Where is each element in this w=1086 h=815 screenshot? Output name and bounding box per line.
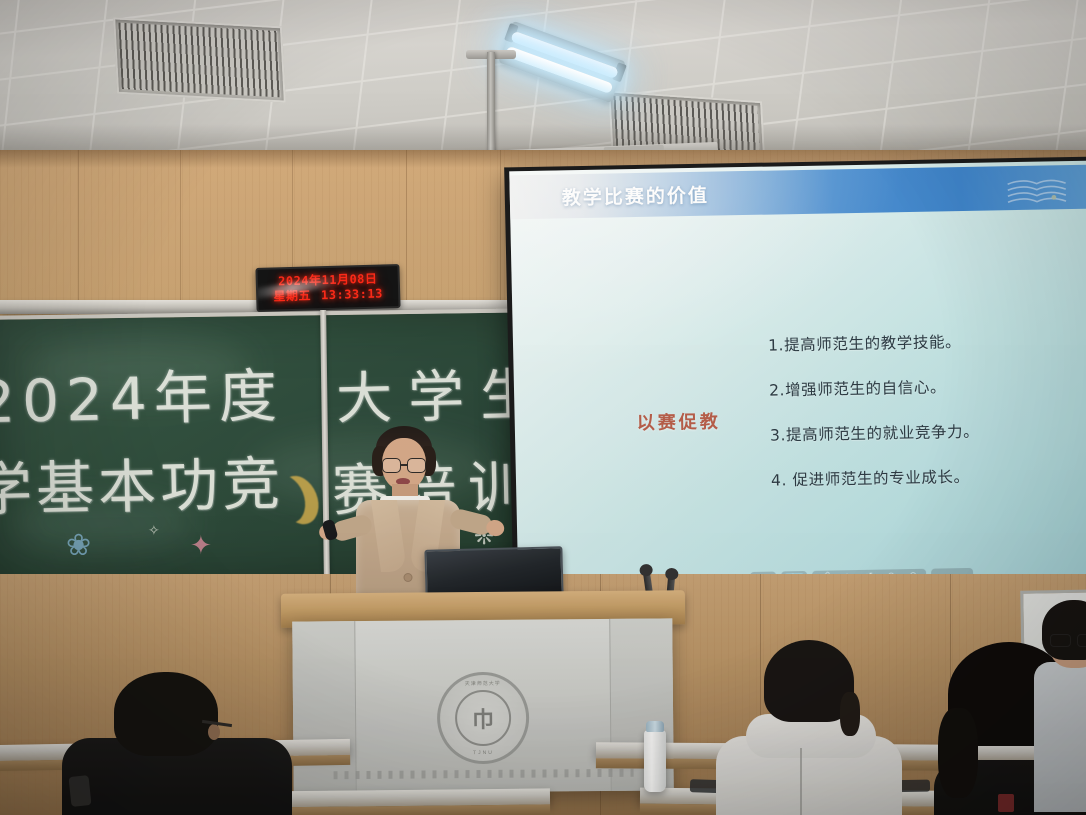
- slide-bullet-list: 1.提高师范生的教学技能。2.增强师范生的自信心。3.提高师范生的就业竞争力。4…: [768, 331, 1072, 516]
- student-front-left: [62, 672, 252, 815]
- slide-body: 以赛促教 1.提高师范生的教学技能。2.增强师范生的自信心。3.提高师范生的就业…: [510, 211, 1086, 609]
- seal-bottom-text: TJNU: [440, 750, 526, 757]
- slide-bullet-item: 2.增强师范生的自信心。: [769, 376, 1069, 399]
- slide-keyword: 以赛促教: [636, 407, 721, 435]
- projection-screen: 教学比赛的价值 以赛促教 1.提高师范生的教学技能。2.增强师范生的自信心。3.…: [504, 157, 1086, 616]
- blackboard-text-left-line1: 2024年度: [0, 349, 284, 439]
- student-front-center: [700, 640, 900, 815]
- led-clock-time: 13:33:13: [321, 286, 383, 303]
- slide-header-bar: 教学比赛的价值: [509, 165, 1086, 220]
- ceiling: [0, 0, 1086, 158]
- slide-bullet-item: 1.提高师范生的教学技能。: [768, 331, 1068, 354]
- blackboard-text-left-line2: 学基本功竞: [0, 437, 285, 527]
- laptop: [424, 546, 563, 598]
- seal-mark: 巾: [455, 690, 511, 746]
- glasses-icon: [382, 458, 426, 471]
- seal-top-text: 天津师范大学: [440, 680, 526, 688]
- slide-bullet-item: 4. 促进师范生的专业成长。: [771, 466, 1071, 489]
- student-far-right: [1038, 600, 1086, 810]
- university-seal-logo: 天津师范大学 巾 TJNU: [437, 672, 530, 765]
- classroom-photo-scene: 2024年11月08日 星期五 13:33:13 2024年度 学基本功竞 大学…: [0, 0, 1086, 815]
- led-clock: 2024年11月08日 星期五 13:33:13: [255, 264, 400, 312]
- presentation-slide: 教学比赛的价值 以赛促教 1.提高师范生的教学技能。2.增强师范生的自信心。3.…: [509, 161, 1086, 609]
- podium-vent-strip: [334, 769, 634, 780]
- slide-title: 教学比赛的价值: [562, 181, 710, 211]
- water-bottle: [644, 730, 666, 792]
- student-desk: [250, 788, 550, 807]
- open-book-icon: [1003, 171, 1070, 212]
- ceiling-air-vent: [113, 17, 286, 102]
- glasses-icon: [1050, 634, 1086, 645]
- slide-bullet-item: 3.提高师范生的就业竞争力。: [770, 421, 1070, 444]
